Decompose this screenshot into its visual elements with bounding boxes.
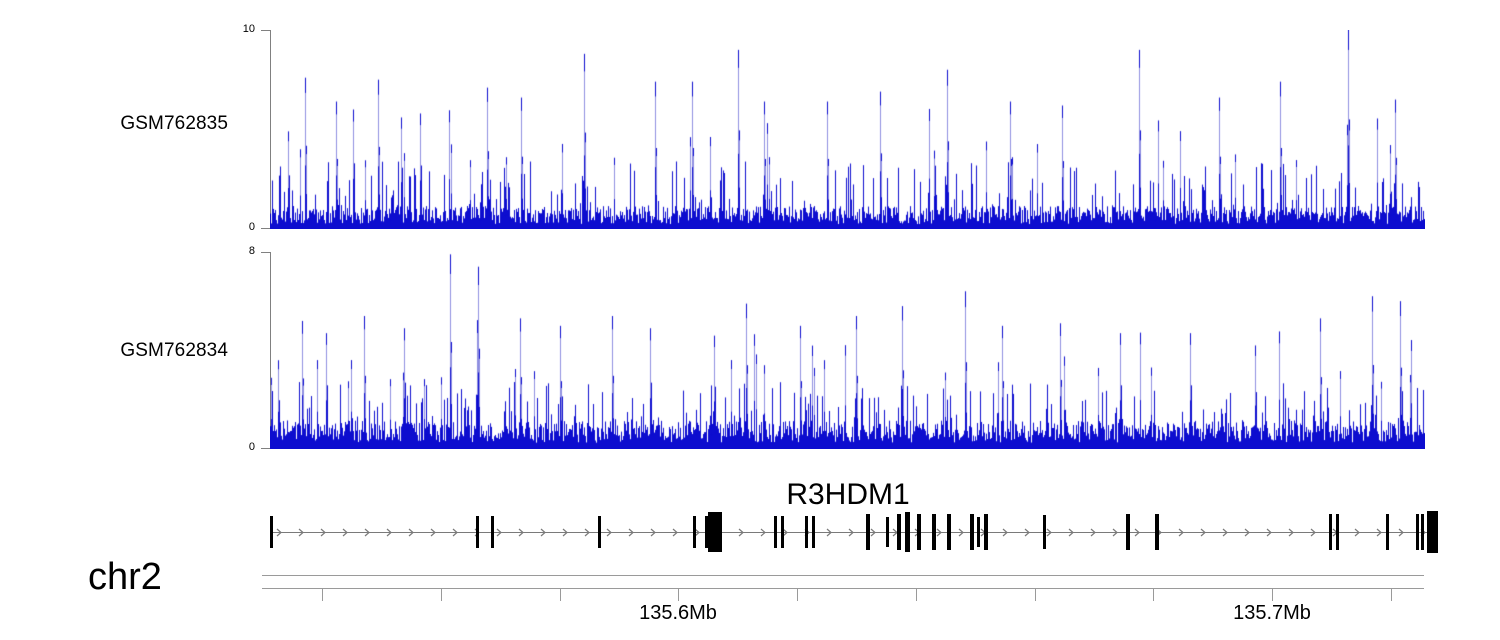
strand-arrow-icon: [584, 528, 591, 537]
ruler-baseline: [262, 588, 1424, 589]
ruler-top-line: [262, 575, 1424, 576]
strand-arrow-icon: [1266, 528, 1273, 537]
gene-exon[interactable]: [1043, 515, 1046, 549]
gene-exon[interactable]: [812, 516, 815, 548]
gene-exon[interactable]: [1329, 514, 1332, 550]
ruler-tick: [1035, 589, 1036, 601]
strand-arrow-icon: [1398, 528, 1405, 537]
strand-arrow-icon: [1354, 528, 1361, 537]
gene-exon[interactable]: [491, 516, 494, 548]
gene-exon[interactable]: [1155, 514, 1159, 550]
strand-arrow-icon: [628, 528, 635, 537]
strand-arrow-icon: [518, 528, 525, 537]
ruler-tick: [797, 589, 798, 601]
track2-axis-max-label: 8: [215, 245, 255, 257]
track1-axis-tick-max: [261, 30, 270, 31]
gene-exon[interactable]: [977, 517, 980, 547]
strand-arrow-icon: [496, 528, 503, 537]
strand-arrow-icon: [1002, 528, 1009, 537]
gene-exon[interactable]: [1126, 514, 1130, 550]
gene-exon[interactable]: [984, 514, 988, 550]
ruler-tick: [1272, 589, 1273, 601]
strand-arrow-icon: [1134, 528, 1141, 537]
gene-exon[interactable]: [693, 516, 696, 548]
strand-arrow-icon: [1178, 528, 1185, 537]
strand-arrow-icon: [848, 528, 855, 537]
strand-arrow-icon: [1024, 528, 1031, 537]
strand-arrow-icon: [870, 528, 877, 537]
ruler-tick: [1391, 589, 1392, 601]
gene-exon[interactable]: [917, 514, 921, 550]
track2-axis-tick-max: [261, 252, 270, 253]
strand-arrow-icon: [826, 528, 833, 537]
gene-exon[interactable]: [1416, 514, 1419, 550]
gene-exon[interactable]: [1427, 511, 1438, 553]
strand-arrow-icon: [540, 528, 547, 537]
gene-exon[interactable]: [932, 514, 936, 550]
genome-browser-view: GSM762835 10 0 GSM762834 8 0 R3HDM1 135.…: [0, 0, 1500, 640]
gene-model-track[interactable]: [0, 505, 1500, 565]
strand-arrow-icon: [562, 528, 569, 537]
strand-arrow-icon: [452, 528, 459, 537]
strand-arrow-icon: [1244, 528, 1251, 537]
gene-exon[interactable]: [774, 516, 777, 548]
strand-arrow-icon: [386, 528, 393, 537]
track1-axis-max-label: 10: [215, 23, 255, 35]
strand-arrow-icon: [738, 528, 745, 537]
strand-arrow-icon: [936, 528, 943, 537]
strand-arrow-icon: [430, 528, 437, 537]
strand-arrow-icon: [1310, 528, 1317, 537]
strand-arrow-icon: [1068, 528, 1075, 537]
track-label-gsm762834: GSM762834: [0, 340, 228, 362]
strand-arrow-icon: [1222, 528, 1229, 537]
strand-arrow-icon: [760, 528, 767, 537]
strand-arrow-icon: [364, 528, 371, 537]
strand-arrow-icon: [606, 528, 613, 537]
track-label-gsm762835: GSM762835: [0, 113, 228, 135]
signal-plot-gsm762834[interactable]: [270, 252, 1425, 449]
strand-arrow-icon: [1090, 528, 1097, 537]
ruler-tick: [678, 589, 679, 601]
strand-arrow-icon: [672, 528, 679, 537]
gene-exon[interactable]: [476, 516, 479, 548]
gene-exon[interactable]: [897, 514, 901, 550]
track1-axis-tick-min: [261, 228, 270, 229]
ruler-tick: [322, 589, 323, 601]
gene-exon[interactable]: [970, 514, 974, 550]
strand-arrow-icon: [408, 528, 415, 537]
ruler-tick: [1153, 589, 1154, 601]
strand-arrow-icon: [342, 528, 349, 537]
strand-arrow-icon: [298, 528, 305, 537]
gene-exon[interactable]: [886, 517, 889, 547]
gene-exon[interactable]: [1421, 514, 1424, 550]
strand-arrow-icon: [1376, 528, 1383, 537]
coordinate-ruler[interactable]: 135.6Mb135.7Mb: [0, 568, 1500, 638]
strand-arrow-icon: [276, 528, 283, 537]
strand-arrow-icon: [650, 528, 657, 537]
track2-axis-min-label: 0: [215, 441, 255, 453]
gene-exon[interactable]: [866, 514, 870, 550]
gene-exon[interactable]: [270, 516, 273, 548]
gene-exon[interactable]: [598, 516, 601, 548]
strand-arrow-icon: [1112, 528, 1119, 537]
gene-exon[interactable]: [1386, 514, 1389, 550]
track1-axis-min-label: 0: [215, 221, 255, 233]
track2-axis-tick-min: [261, 448, 270, 449]
strand-arrow-icon: [1288, 528, 1295, 537]
strand-arrow-icon: [958, 528, 965, 537]
signal-plot-gsm762835[interactable]: [270, 30, 1425, 229]
gene-exon[interactable]: [805, 516, 808, 548]
gene-exon[interactable]: [947, 514, 951, 550]
gene-exon[interactable]: [905, 512, 910, 552]
chromosome-label: chr2: [88, 556, 162, 599]
ruler-tick-label: 135.6Mb: [639, 602, 717, 625]
strand-arrow-icon: [1200, 528, 1207, 537]
gene-exon[interactable]: [781, 516, 784, 548]
gene-exon[interactable]: [1336, 514, 1339, 550]
ruler-tick: [560, 589, 561, 601]
ruler-tick: [441, 589, 442, 601]
strand-arrow-icon: [320, 528, 327, 537]
ruler-tick: [916, 589, 917, 601]
strand-arrow-icon: [1046, 528, 1053, 537]
ruler-tick-label: 135.7Mb: [1233, 602, 1311, 625]
gene-exon[interactable]: [708, 512, 722, 552]
